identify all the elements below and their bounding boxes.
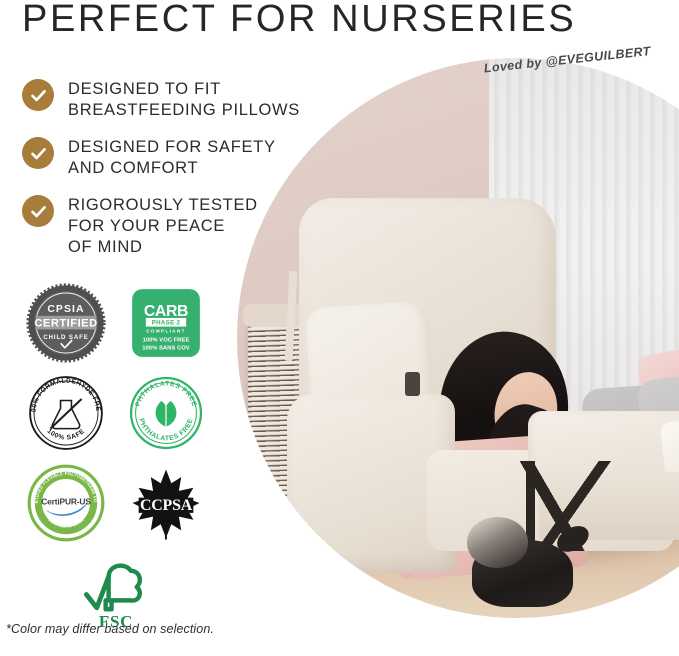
certification-badges: CPSIA CERTIFIED CHILD SAFE CARB PHASE 2 … xyxy=(16,282,216,642)
fsc-certified-icon: FSC xyxy=(79,556,153,630)
checkmark-icon xyxy=(22,195,54,227)
carb-line-5: 100% SANS COV xyxy=(142,346,190,352)
feature-line-2: FOR YOUR PEACE xyxy=(68,217,225,235)
feature-line-1: RIGOROUSLY TESTED xyxy=(68,196,258,214)
feature-line-2: AND COMFORT xyxy=(68,159,198,177)
ccpsa-icon: CCPSA xyxy=(128,465,204,541)
feature-item: DESIGNED FOR SAFETY AND COMFORT xyxy=(22,136,322,179)
feature-line-3: OF MIND xyxy=(68,238,143,256)
carb-phase-2-compliant-icon: CARB PHASE 2 COMPLIANT 100% VOC FREE 100… xyxy=(130,287,202,359)
carb-line-3: COMPLIANT xyxy=(146,328,186,333)
fsc-tree-shape xyxy=(106,566,140,610)
checkmark-icon xyxy=(22,137,54,169)
certipur-label: CertiPUR-US xyxy=(41,497,91,507)
feature-line-1: DESIGNED TO FIT xyxy=(68,80,221,98)
ccpsa-label: CCPSA xyxy=(140,497,193,514)
feature-item: RIGOROUSLY TESTED FOR YOUR PEACE OF MIND xyxy=(22,194,322,258)
feature-text: DESIGNED FOR SAFETY AND COMFORT xyxy=(68,136,276,179)
leaf-icon xyxy=(156,401,177,427)
certipur-us-icon: CERTIFIED FLEXIBLE POLYURETHANE FOAM WWW… xyxy=(26,463,106,543)
footnote-text: *Color may differ based on selection. xyxy=(6,622,214,636)
badge-cell: 100% FORMALDEHYDE FREE 100% SAFE xyxy=(16,372,116,454)
feature-list: DESIGNED TO FIT BREASTFEEDING PILLOWS DE… xyxy=(22,78,322,273)
badge-cell: CERTIFIED FLEXIBLE POLYURETHANE FOAM WWW… xyxy=(16,462,116,544)
recliner-release-knob xyxy=(405,372,420,397)
badge-cell: CPSIA CERTIFIED CHILD SAFE xyxy=(16,282,116,364)
badge-cell: PHTHALATES FREE PHTHALATES FREE xyxy=(116,372,216,454)
badge-cell: CARB PHASE 2 COMPLIANT 100% VOC FREE 100… xyxy=(116,282,216,364)
badge-row: CERTIFIED FLEXIBLE POLYURETHANE FOAM WWW… xyxy=(16,462,216,544)
feature-text: DESIGNED TO FIT BREASTFEEDING PILLOWS xyxy=(68,78,300,121)
cpsia-certified-icon: CPSIA CERTIFIED CHILD SAFE xyxy=(26,283,106,363)
badge-cell: CCPSA xyxy=(116,462,216,544)
promo-image-canvas: PERFECT FOR NURSERIES Loved by @EVEGUILB… xyxy=(0,0,679,656)
carb-line-4: 100% VOC FREE xyxy=(143,338,190,344)
feature-line-1: DESIGNED FOR SAFETY xyxy=(68,138,276,156)
formaldehyde-free-icon: 100% FORMALDEHYDE FREE 100% SAFE xyxy=(27,374,105,452)
formaldehyde-arc-bottom: 100% SAFE xyxy=(46,428,87,442)
phthalates-free-icon: PHTHALATES FREE PHTHALATES FREE xyxy=(128,375,204,451)
badge-row: CPSIA CERTIFIED CHILD SAFE CARB PHASE 2 … xyxy=(16,282,216,364)
feature-line-2: BREASTFEEDING PILLOWS xyxy=(68,101,300,119)
page-title: PERFECT FOR NURSERIES xyxy=(22,0,576,41)
cpsia-line-2: CERTIFIED xyxy=(34,318,97,330)
checkmark-icon xyxy=(22,79,54,111)
badge-row: 100% FORMALDEHYDE FREE 100% SAFE xyxy=(16,372,216,454)
carb-line-1: CARB xyxy=(144,303,188,320)
carb-line-2: PHASE 2 xyxy=(152,320,181,327)
dog-head xyxy=(467,517,529,567)
feature-text: RIGOROUSLY TESTED FOR YOUR PEACE OF MIND xyxy=(68,194,258,258)
cpsia-line-3: CHILD SAFE xyxy=(43,334,88,341)
feature-item: DESIGNED TO FIT BREASTFEEDING PILLOWS xyxy=(22,78,322,121)
cpsia-line-1: CPSIA xyxy=(47,304,84,315)
